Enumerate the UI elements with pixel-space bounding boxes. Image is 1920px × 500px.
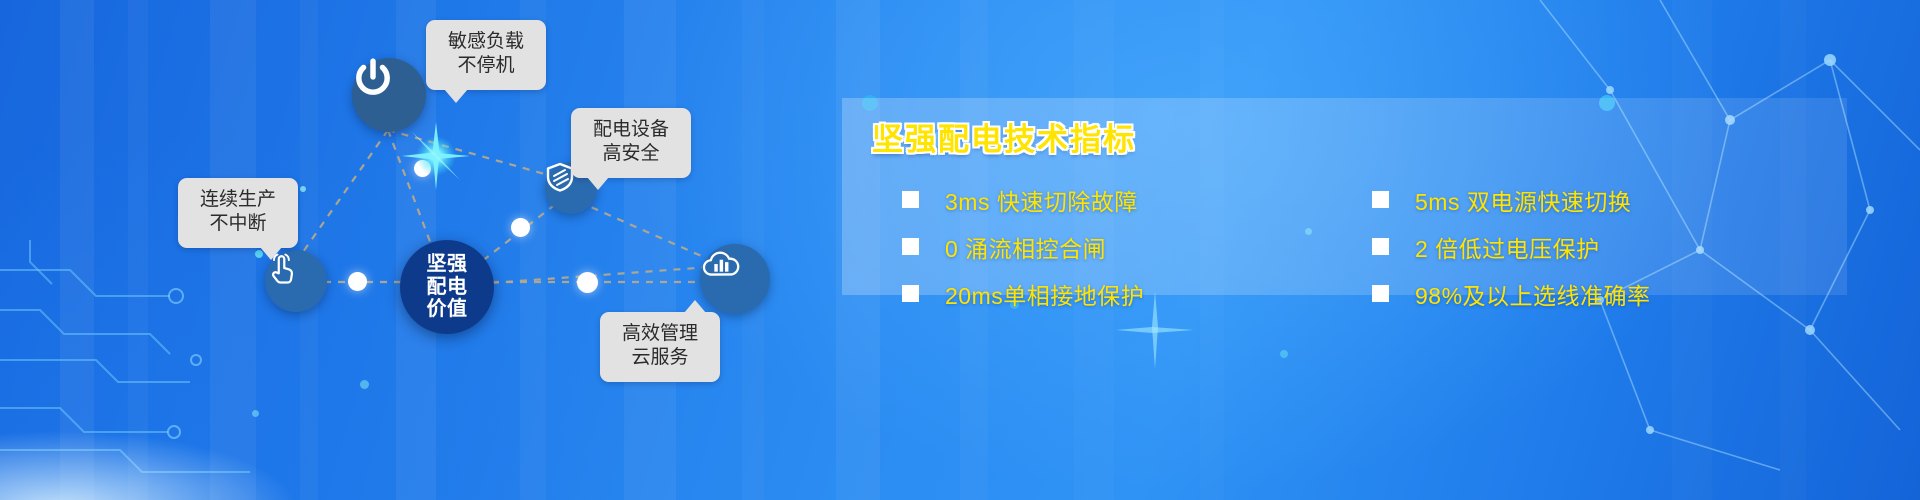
bubble-tail — [684, 300, 706, 313]
node-cloud[interactable] — [700, 244, 770, 314]
bubble-line: 不停机 — [442, 54, 530, 78]
bullet-square-icon — [1372, 285, 1389, 302]
core-value-node[interactable]: 坚强 配电 价值 — [400, 240, 494, 334]
bubble-line: 云服务 — [616, 346, 704, 370]
spec-list: 3ms 快速切除故障 5ms 双电源快速切换 0 涌流相控合闸 2 倍低过电压保… — [902, 176, 1832, 317]
bubble-line: 配电设备 — [587, 118, 675, 142]
spec-label: 5ms 双电源快速切换 — [1415, 183, 1631, 217]
bubble-line: 高效管理 — [616, 322, 704, 346]
bullet-square-icon — [902, 238, 919, 255]
spec-item[interactable]: 5ms 双电源快速切换 — [1372, 176, 1742, 223]
bubble-line: 敏感负载 — [442, 30, 530, 54]
spec-label: 0 涌流相控合闸 — [945, 230, 1106, 264]
bullet-square-icon — [1372, 238, 1389, 255]
bubble-tail — [587, 177, 609, 190]
value-network-diagram: 坚强 配电 价值 敏感负载 不停机 配电设备 高安全 连续生产 不中断 高效管理… — [0, 0, 860, 500]
bubble-equipment-safety[interactable]: 配电设备 高安全 — [571, 108, 691, 178]
connector-dot — [348, 272, 367, 291]
node-power[interactable] — [352, 58, 426, 132]
bubble-tail — [260, 247, 282, 260]
connector-dot — [577, 272, 598, 293]
bullet-square-icon — [902, 285, 919, 302]
connector-dot — [511, 218, 530, 237]
panel-title: 坚强配电技术指标 — [872, 114, 1136, 159]
bubble-line: 高安全 — [587, 142, 675, 166]
core-value-label: 坚强 配电 价值 — [427, 253, 468, 320]
spec-item[interactable]: 3ms 快速切除故障 — [902, 176, 1272, 223]
spec-item[interactable]: 98%及以上选线准确率 — [1372, 270, 1742, 317]
spec-item[interactable]: 2 倍低过电压保护 — [1372, 223, 1742, 270]
spec-label: 98%及以上选线准确率 — [1415, 277, 1651, 311]
bubble-cloud-service[interactable]: 高效管理 云服务 — [600, 312, 720, 382]
bubble-continuous-production[interactable]: 连续生产 不中断 — [178, 178, 298, 248]
bullet-square-icon — [1372, 191, 1389, 208]
cloud-chart-icon — [700, 244, 742, 286]
glow-dot — [1280, 350, 1288, 358]
power-button-icon — [352, 58, 394, 100]
bubble-line: 连续生产 — [194, 188, 282, 212]
tech-spec-panel: 坚强配电技术指标 3ms 快速切除故障 5ms 双电源快速切换 0 涌流相控合闸… — [842, 98, 1847, 295]
spec-label: 2 倍低过电压保护 — [1415, 230, 1600, 264]
bubble-line: 不中断 — [194, 212, 282, 236]
spec-label: 3ms 快速切除故障 — [945, 183, 1138, 217]
sparkle-icon — [1110, 285, 1200, 375]
bubble-sensitive-load[interactable]: 敏感负载 不停机 — [426, 20, 546, 90]
bullet-square-icon — [902, 191, 919, 208]
bubble-tail — [444, 89, 468, 103]
spec-item[interactable]: 20ms单相接地保护 — [902, 270, 1272, 317]
sparkle-icon — [400, 120, 472, 192]
spec-item[interactable]: 0 涌流相控合闸 — [902, 223, 1272, 270]
promo-banner: 坚强 配电 价值 敏感负载 不停机 配电设备 高安全 连续生产 不中断 高效管理… — [0, 0, 1920, 500]
